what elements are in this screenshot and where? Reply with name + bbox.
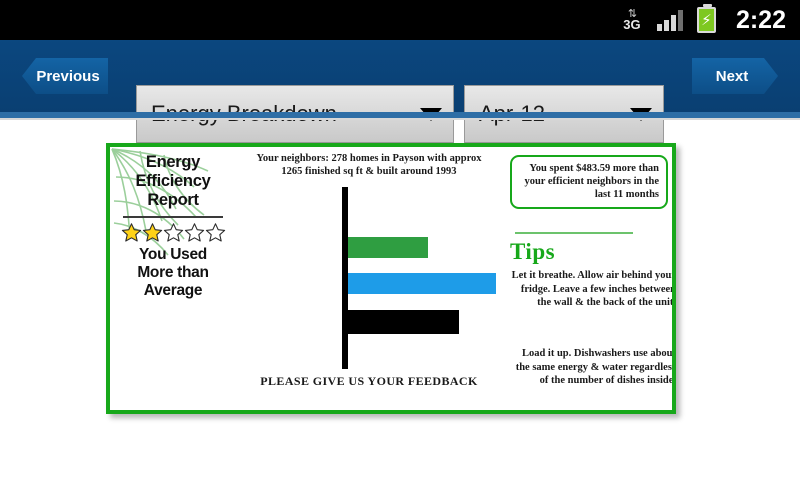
star-icon (184, 222, 205, 243)
usage-verdict-line2: More than (114, 264, 232, 282)
star-icon (163, 222, 184, 243)
bar-all-neighbors (348, 273, 496, 294)
report-title-line3: Report (114, 191, 232, 210)
divider (123, 216, 223, 218)
status-icons: ⇅ 3G ⚡ 2:22 (621, 5, 786, 35)
toolbar-divider-light (0, 118, 800, 120)
signal-bars-icon (657, 9, 683, 31)
network-type-label: 3G (623, 18, 640, 31)
3g-data-icon: ⇅ 3G (621, 5, 643, 35)
report-summary-panel: Energy Efficiency Report You Used More t… (114, 153, 232, 300)
previous-button-label: Previous (36, 68, 99, 85)
report-title-line1: Energy (114, 153, 232, 172)
star-icon (121, 222, 142, 243)
status-bar: ⇅ 3G ⚡ 2:22 (0, 0, 800, 40)
neighbors-caption: Your neighbors: 278 homes in Payson with… (238, 152, 500, 178)
star-icon (142, 222, 163, 243)
spend-callout: You spent $483.59 more than your efficie… (510, 155, 668, 209)
battery-charging-icon: ⚡ (697, 7, 716, 33)
bar-you (348, 310, 459, 334)
tip-item: Load it up. Dishwashers use about the sa… (506, 347, 676, 388)
next-button[interactable]: Next (692, 58, 778, 94)
bar-efficient-neighbors (348, 237, 428, 258)
energy-report-card[interactable]: Energy Efficiency Report You Used More t… (106, 143, 676, 414)
tips-heading: Tips (510, 239, 555, 265)
neighbors-caption-line2: 1265 finished sq ft & built around 1993 (238, 165, 500, 178)
usage-verdict-line1: You Used (114, 246, 232, 264)
usage-verdict: You Used More than Average (114, 246, 232, 300)
phone-screen: ⇅ 3G ⚡ 2:22 Previous Energy Breakdown Ap… (0, 0, 800, 480)
star-icon (205, 222, 226, 243)
status-clock: 2:22 (736, 6, 786, 35)
lightning-bolt-icon: ⚡ (699, 9, 714, 31)
usage-verdict-line3: Average (114, 282, 232, 300)
tip-item: Let it breathe. Allow air behind your fr… (506, 269, 676, 310)
neighbors-caption-line1: Your neighbors: 278 homes in Payson with… (238, 152, 500, 165)
toolbar: Previous Energy Breakdown Apr-12 Next (0, 40, 800, 112)
previous-button[interactable]: Previous (22, 58, 108, 94)
report-title-line2: Efficiency (114, 172, 232, 191)
next-button-label: Next (716, 68, 749, 85)
tips-divider (515, 232, 633, 234)
feedback-prompt: PLEASE GIVE US YOUR FEEDBACK (238, 374, 500, 389)
report-title: Energy Efficiency Report (114, 153, 232, 210)
usage-bar-chart (238, 179, 500, 369)
star-rating (114, 222, 232, 243)
